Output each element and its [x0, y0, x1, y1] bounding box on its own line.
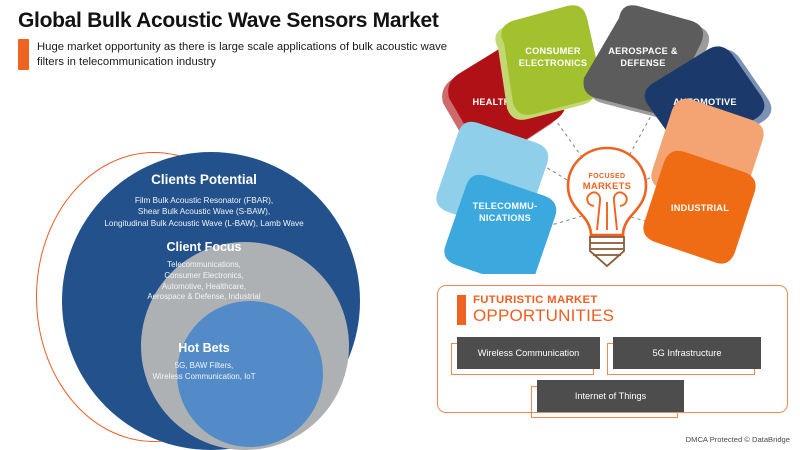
petal-telecommunications-label-line1: TELECOMMU-: [473, 201, 538, 211]
opportunity-label: 5G Infrastructure: [613, 337, 761, 369]
opportunity-row-1: Wireless Communication 5G Infrastructure: [457, 337, 761, 369]
petal-consumer-electronics-label-line1: CONSUMER: [525, 46, 581, 56]
petal-telecommunications[interactable]: TELECOMMU- NICATIONS: [436, 122, 556, 274]
opportunity-row-2: Internet of Things: [537, 380, 684, 412]
panel-accent-bar-icon: [457, 295, 466, 325]
panel-header: FUTURISTIC MARKET OPPORTUNITIES: [457, 295, 614, 325]
petal-consumer-electronics[interactable]: CONSUMER ELECTRONICS: [495, 5, 601, 120]
bulb-label-bottom: MARKETS: [583, 180, 631, 191]
panel-title: OPPORTUNITIES: [473, 307, 614, 324]
clients-potential-label: Clients Potential: [36, 172, 372, 187]
petal-telecommunications-label-line2: NICATIONS: [479, 213, 531, 223]
petal-industrial-label: INDUSTRIAL: [671, 203, 729, 213]
hot-bets-body: 5G, BAW Filters, Wireless Communication,…: [36, 361, 372, 383]
subtitle-block: Huge market opportunity as there is larg…: [18, 39, 458, 70]
opportunity-item[interactable]: Wireless Communication: [457, 337, 600, 369]
panel-header-text: FUTURISTIC MARKET OPPORTUNITIES: [473, 295, 614, 324]
panel-kicker: FUTURISTIC MARKET: [473, 295, 614, 306]
focused-markets-wheel: HEALTHCARE CONSUMER ELECTRONICS AEROSPAC…: [424, 2, 796, 274]
subtitle-text: Huge market opportunity as there is larg…: [37, 39, 458, 70]
footer-copyright: DMCA Protected © DataBridge: [686, 435, 790, 444]
opportunity-label: Internet of Things: [537, 380, 684, 412]
opportunity-label: Wireless Communication: [457, 337, 600, 369]
accent-bar-icon: [18, 39, 29, 70]
opportunity-item[interactable]: Internet of Things: [537, 380, 684, 412]
client-focus-label: Client Focus: [36, 240, 372, 254]
infographic-canvas: Global Bulk Acoustic Wave Sensors Market…: [0, 0, 800, 450]
futuristic-opportunities-panel: FUTURISTIC MARKET OPPORTUNITIES Wireless…: [437, 285, 788, 413]
petal-aerospace-defense-label-line1: AEROSPACE &: [608, 46, 678, 56]
petal-consumer-electronics-label-line2: ELECTRONICS: [519, 58, 588, 68]
page-title: Global Bulk Acoustic Wave Sensors Market: [18, 8, 458, 33]
petal-aerospace-defense-label-line2: DEFENSE: [620, 58, 665, 68]
client-focus-body: Telecommunications, Consumer Electronics…: [36, 260, 372, 303]
opportunity-item[interactable]: 5G Infrastructure: [613, 337, 761, 369]
header: Global Bulk Acoustic Wave Sensors Market…: [18, 8, 458, 70]
hot-bets-label: Hot Bets: [36, 341, 372, 355]
clients-potential-body: Film Bulk Acoustic Resonator (FBAR), She…: [36, 195, 372, 229]
concentric-circles-diagram: Clients Potential Film Bulk Acoustic Res…: [36, 148, 372, 450]
bulb-label-top: FOCUSED: [588, 173, 625, 180]
bulb-base: [590, 236, 624, 266]
lightbulb-icon: FOCUSED MARKETS: [568, 148, 646, 266]
